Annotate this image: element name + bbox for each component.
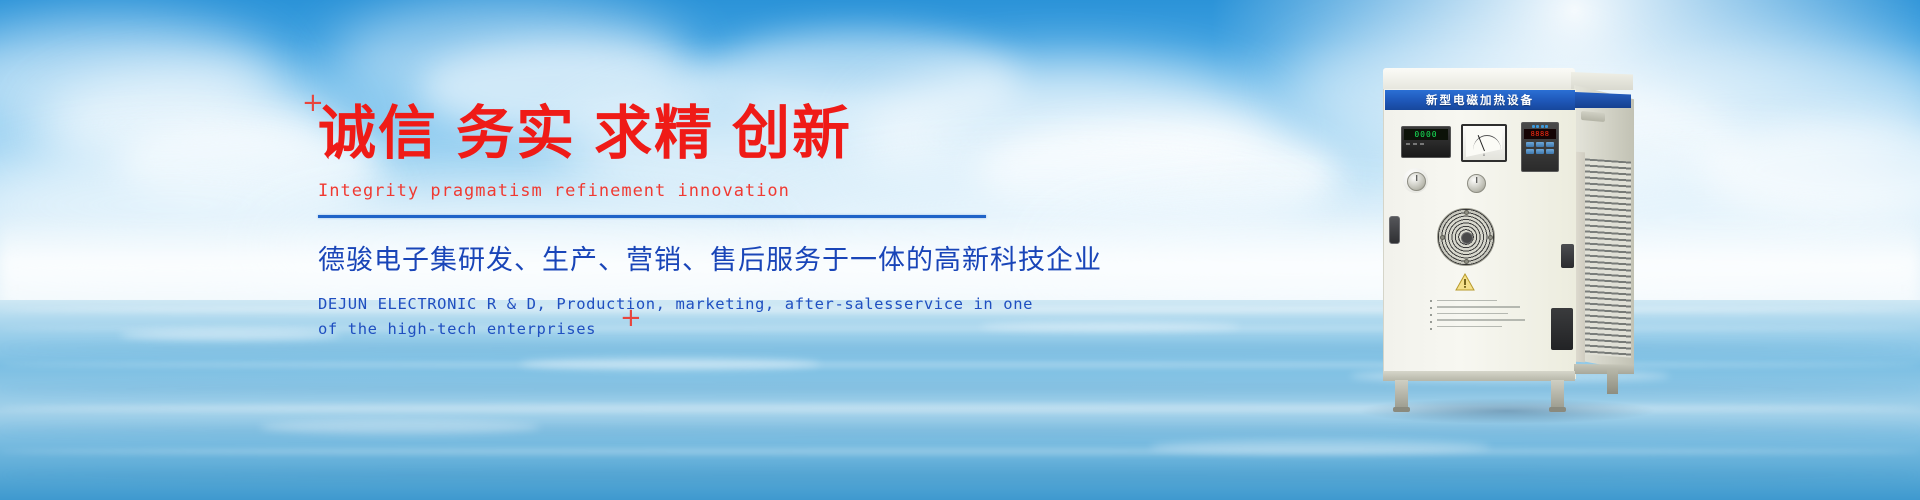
analog-gauge-caption: A bbox=[1463, 153, 1505, 157]
product-machine: 新型电磁加热设备 0000 A 8888 bbox=[1375, 68, 1645, 428]
machine-label-side bbox=[1575, 92, 1631, 108]
headline-word-1: 诚信 bbox=[318, 99, 438, 167]
machine-leg-right bbox=[1551, 380, 1564, 408]
controller-value: 8888 bbox=[1531, 130, 1550, 138]
headline-word-2: 务实 bbox=[456, 99, 576, 167]
machine-lower-vent bbox=[1551, 308, 1573, 350]
machine-plinth bbox=[1383, 371, 1575, 381]
machine-label: 新型电磁加热设备 bbox=[1385, 90, 1575, 110]
headline-word-3: 求精 bbox=[594, 99, 714, 167]
controller-screen: 8888 bbox=[1524, 129, 1556, 139]
cooling-fan-hub bbox=[1461, 232, 1473, 244]
digital-meter-value: 0000 bbox=[1414, 130, 1437, 139]
divider-rule bbox=[318, 215, 986, 218]
headline-english: Integrity pragmatism refinement innovati… bbox=[318, 181, 1038, 201]
machine-louver-edge bbox=[1575, 152, 1585, 363]
controller-panel[interactable]: 8888 bbox=[1521, 122, 1559, 172]
banner-copy: 诚信务实求精创新 Integrity pragmatism refinement… bbox=[318, 104, 1038, 342]
headline: 诚信务实求精创新 bbox=[318, 104, 1038, 162]
warning-triangle-icon bbox=[1455, 273, 1475, 291]
control-knob-right[interactable] bbox=[1467, 174, 1486, 193]
digital-meter: 0000 bbox=[1401, 126, 1451, 158]
machine-spec-plate bbox=[1437, 300, 1533, 332]
promo-banner: + + 诚信务实求精创新 Integrity pragmatism refine… bbox=[0, 0, 1920, 500]
controller-keypad[interactable] bbox=[1524, 142, 1556, 154]
cooling-fan-grille bbox=[1437, 208, 1495, 266]
machine-door-handle[interactable] bbox=[1389, 216, 1400, 244]
machine-ventilation-louvers bbox=[1585, 158, 1631, 357]
machine-plinth-side bbox=[1574, 364, 1634, 374]
machine-side-latch[interactable] bbox=[1561, 244, 1574, 268]
controller-status-leds bbox=[1524, 125, 1556, 128]
machine-foot-left bbox=[1393, 407, 1410, 412]
analog-gauge-scale bbox=[1473, 135, 1501, 150]
subtitle-english: DEJUN ELECTRONIC R & D, Production, mark… bbox=[318, 292, 1038, 342]
subtitle-chinese: 德骏电子集研发、生产、营销、售后服务于一体的高新科技企业 bbox=[318, 238, 1038, 277]
machine-foot-right bbox=[1549, 407, 1566, 412]
subtitle-english-line-1: DEJUN ELECTRONIC R & D, Production, mark… bbox=[318, 292, 1038, 317]
control-knob-left[interactable] bbox=[1407, 172, 1426, 191]
digital-meter-indicators bbox=[1404, 143, 1448, 145]
machine-leg-rear bbox=[1607, 368, 1618, 394]
digital-meter-screen: 0000 bbox=[1404, 129, 1448, 140]
warning-label-icon bbox=[1455, 273, 1475, 291]
headline-word-4: 创新 bbox=[732, 99, 852, 167]
analog-gauge: A bbox=[1461, 124, 1507, 162]
machine-leg-left bbox=[1395, 380, 1408, 408]
machine-top-cap bbox=[1383, 68, 1575, 90]
subtitle-english-line-2: of the high-tech enterprises bbox=[318, 317, 1038, 342]
